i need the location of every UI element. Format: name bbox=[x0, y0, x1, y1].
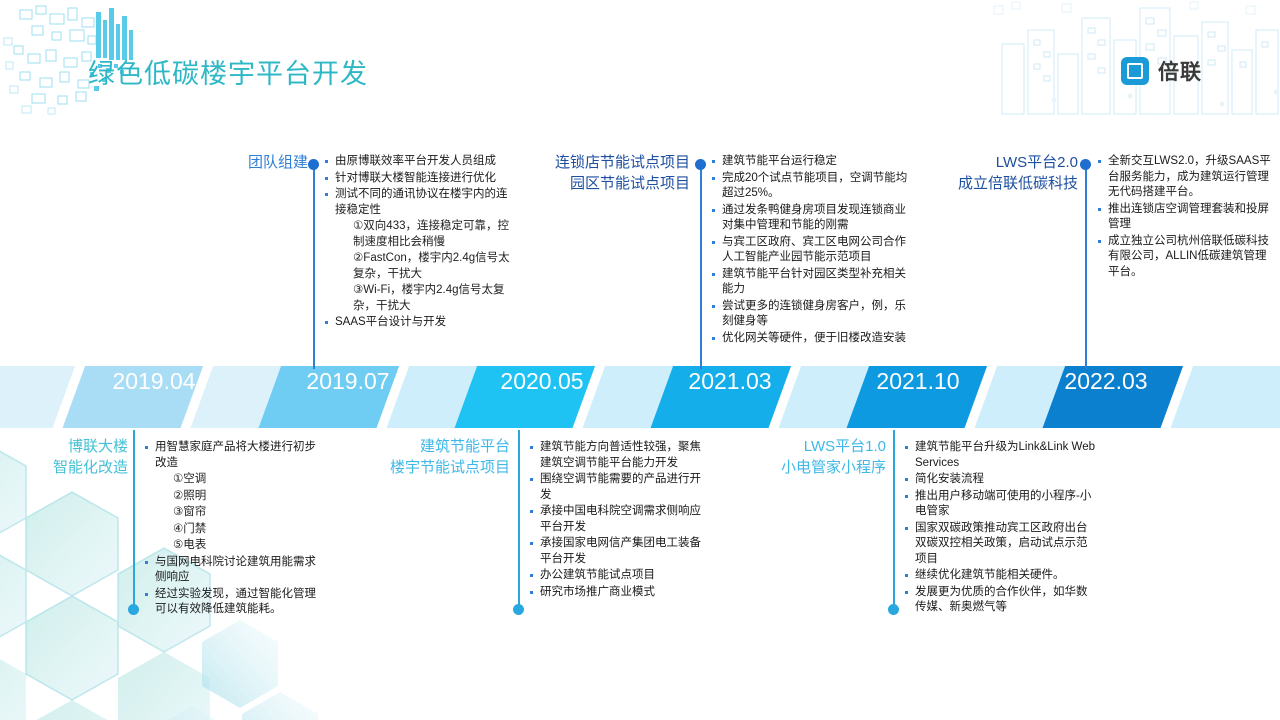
list-item: 通过发条鸭健身房项目发现连锁商业对集中管理和节能的刚需 bbox=[710, 203, 910, 234]
list-item: 国家双碳政策推动宾工区政府出台双碳双控相关政策，启动试点示范项目 bbox=[903, 521, 1095, 568]
bullet-list: 建筑节能平台升级为Link&Link Web Services 简化安装流程 推… bbox=[903, 440, 1095, 616]
list-item-sub: ②FastCon，楼宇内2.4g信号太复杂，干扰大 bbox=[323, 251, 515, 282]
list-item: SAAS平台设计与开发 bbox=[323, 315, 515, 331]
milestone-block-chain-store-pilot: 连锁店节能试点项目 园区节能试点项目 bbox=[520, 152, 690, 194]
band-slab-1 bbox=[60, 366, 206, 428]
band-slab-5 bbox=[452, 366, 598, 428]
block-title-line-0: LWS平台1.0 bbox=[768, 436, 886, 457]
list-item: 建筑节能平台升级为Link&Link Web Services bbox=[903, 440, 1095, 471]
list-item: 建筑节能方向普适性较强，聚焦建筑空调节能平台能力开发 bbox=[528, 440, 712, 471]
list-item: 与宾工区政府、宾工区电网公司合作人工智能产业园节能示范项目 bbox=[710, 235, 910, 266]
slide-canvas: 绿色低碳楼宇平台开发 倍联 2019.04 2019.07 2020.05 20… bbox=[0, 0, 1280, 720]
list-item: 用智慧家庭产品将大楼进行初步改造 bbox=[143, 440, 323, 471]
timeline-stem-top-2 bbox=[1085, 165, 1087, 369]
milestone-block-lws-1: LWS平台1.0 小电管家小程序 bbox=[768, 436, 886, 478]
list-item-sub: ①空调 bbox=[143, 472, 323, 488]
list-item: 测试不同的通讯协议在楼宇内的连接稳定性 bbox=[323, 187, 515, 218]
list-item: 尝试更多的连锁健身房客户，例，乐刻健身等 bbox=[710, 299, 910, 330]
block-title-line-0: 博联大楼 bbox=[10, 436, 128, 457]
list-item: 优化网关等硬件，便于旧楼改造安装 bbox=[710, 331, 910, 347]
list-item-sub: ②照明 bbox=[143, 489, 323, 505]
timeline-band bbox=[0, 366, 1280, 428]
milestone-body-bolian-building: 用智慧家庭产品将大楼进行初步改造 ①空调 ②照明 ③窗帘 ④门禁 ⑤电表 与国网… bbox=[143, 440, 323, 619]
bullet-list: 建筑节能平台运行稳定 完成20个试点节能项目，空调节能均超过25%。 通过发条鸭… bbox=[710, 154, 910, 346]
bullet-list: 用智慧家庭产品将大楼进行初步改造 ①空调 ②照明 ③窗帘 ④门禁 ⑤电表 与国网… bbox=[143, 440, 323, 618]
list-item: 推出用户移动端可使用的小程序-小电管家 bbox=[903, 489, 1095, 520]
timeline-node-bottom-2 bbox=[888, 604, 899, 615]
list-item: 发展更为优质的合作伙伴，如华数传媒、新奥燃气等 bbox=[903, 585, 1095, 616]
list-item: 成立独立公司杭州倍联低碳科技有限公司，ALLIN低碳建筑管理平台。 bbox=[1096, 234, 1272, 281]
block-title-line-0: 团队组建 bbox=[180, 152, 308, 173]
brand-name: 倍联 bbox=[1158, 56, 1202, 86]
milestone-block-building-energy-platform: 建筑节能平台 楼宇节能试点项目 bbox=[390, 436, 510, 478]
list-item: 建筑节能平台针对园区类型补充相关能力 bbox=[710, 267, 910, 298]
milestone-block-team-build: 团队组建 bbox=[180, 152, 308, 173]
bullet-list: 全新交互LWS2.0，升级SAAS平台服务能力，成为建筑运行管理无代码搭建平台。… bbox=[1096, 154, 1272, 280]
list-item-sub: ①双向433，连接稳定可靠，控制速度相比会稍慢 bbox=[323, 219, 515, 250]
brand-logo: 倍联 bbox=[1121, 56, 1202, 86]
list-item: 继续优化建筑节能相关硬件。 bbox=[903, 568, 1095, 584]
band-slab-9 bbox=[844, 366, 990, 428]
block-title-line-1: 成立倍联低碳科技 bbox=[910, 173, 1078, 194]
milestone-block-lws-2: LWS平台2.0 成立倍联低碳科技 bbox=[910, 152, 1078, 194]
milestone-body-team-build: 由原博联效率平台开发人员组成 针对博联大楼智能连接进行优化 测试不同的通讯协议在… bbox=[323, 154, 515, 332]
list-item: 经过实验发现，通过智能化管理可以有效降低建筑能耗。 bbox=[143, 587, 323, 618]
block-title-line-0: 建筑节能平台 bbox=[390, 436, 510, 457]
milestone-body-lws-2: 全新交互LWS2.0，升级SAAS平台服务能力，成为建筑运行管理无代码搭建平台。… bbox=[1096, 154, 1272, 281]
timeline-stem-bottom-1 bbox=[518, 430, 520, 610]
bullet-list: 建筑节能方向普适性较强，聚焦建筑空调节能平台能力开发 围绕空调节能需要的产品进行… bbox=[528, 440, 712, 600]
block-title-line-0: LWS平台2.0 bbox=[910, 152, 1078, 173]
list-item: 完成20个试点节能项目，空调节能均超过25%。 bbox=[710, 171, 910, 202]
list-item-sub: ④门禁 bbox=[143, 522, 323, 538]
block-title-line-1: 楼宇节能试点项目 bbox=[390, 457, 510, 478]
list-item: 与国网电科院讨论建筑用能需求侧响应 bbox=[143, 555, 323, 586]
block-title-line-1: 园区节能试点项目 bbox=[520, 173, 690, 194]
page-title: 绿色低碳楼宇平台开发 bbox=[88, 52, 368, 91]
timeline-stem-top-1 bbox=[700, 165, 702, 369]
block-title-line-1: 小电管家小程序 bbox=[768, 457, 886, 478]
milestone-body-lws-1: 建筑节能平台升级为Link&Link Web Services 简化安装流程 推… bbox=[903, 440, 1095, 617]
list-item: 建筑节能平台运行稳定 bbox=[710, 154, 910, 170]
milestone-block-bolian-building: 博联大楼 智能化改造 bbox=[10, 436, 128, 478]
block-title-line-1: 智能化改造 bbox=[10, 457, 128, 478]
milestone-body-chain-store-pilot: 建筑节能平台运行稳定 完成20个试点节能项目，空调节能均超过25%。 通过发条鸭… bbox=[710, 154, 910, 347]
list-item: 承接国家电网信产集团电工装备平台开发 bbox=[528, 536, 712, 567]
list-item-sub: ③窗帘 bbox=[143, 505, 323, 521]
list-item: 由原博联效率平台开发人员组成 bbox=[323, 154, 515, 170]
rounded-square-icon bbox=[1121, 57, 1149, 85]
timeline-node-top-1 bbox=[695, 159, 706, 170]
timeline-node-top-2 bbox=[1080, 159, 1091, 170]
band-slab-7 bbox=[648, 366, 794, 428]
block-title-line-0: 连锁店节能试点项目 bbox=[520, 152, 690, 173]
timeline-node-bottom-0 bbox=[128, 604, 139, 615]
list-item: 承接中国电科院空调需求侧响应平台开发 bbox=[528, 504, 712, 535]
list-item: 研究市场推广商业模式 bbox=[528, 585, 712, 601]
bullet-list: 由原博联效率平台开发人员组成 针对博联大楼智能连接进行优化 测试不同的通讯协议在… bbox=[323, 154, 515, 331]
timeline-stem-bottom-2 bbox=[893, 430, 895, 610]
list-item: 围绕空调节能需要的产品进行开发 bbox=[528, 472, 712, 503]
list-item: 推出连锁店空调管理套装和投屏管理 bbox=[1096, 202, 1272, 233]
timeline-node-top-0 bbox=[308, 159, 319, 170]
timeline-stem-bottom-0 bbox=[133, 430, 135, 610]
timeline-stem-top-0 bbox=[313, 165, 315, 369]
band-slab-12 bbox=[1168, 366, 1280, 428]
list-item: 办公建筑节能试点项目 bbox=[528, 568, 712, 584]
list-item: 简化安装流程 bbox=[903, 472, 1095, 488]
list-item: 针对博联大楼智能连接进行优化 bbox=[323, 171, 515, 187]
list-item: 全新交互LWS2.0，升级SAAS平台服务能力，成为建筑运行管理无代码搭建平台。 bbox=[1096, 154, 1272, 201]
band-slab-3 bbox=[256, 366, 402, 428]
milestone-body-building-energy-platform: 建筑节能方向普适性较强，聚焦建筑空调节能平台能力开发 围绕空调节能需要的产品进行… bbox=[528, 440, 712, 601]
band-slab-11 bbox=[1040, 366, 1186, 428]
timeline-node-bottom-1 bbox=[513, 604, 524, 615]
list-item-sub: ③Wi-Fi，楼宇内2.4g信号太复杂，干扰大 bbox=[323, 283, 515, 314]
list-item-sub: ⑤电表 bbox=[143, 538, 323, 554]
